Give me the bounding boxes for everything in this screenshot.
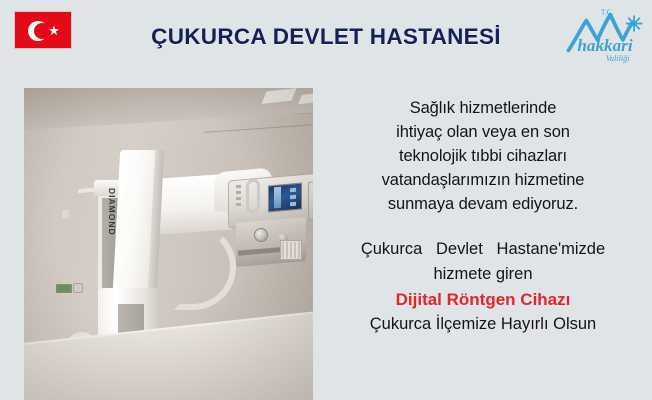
console-display-button [290,195,296,200]
console-side-module [308,180,313,220]
console-keypad [236,185,241,207]
highlight-device-name: Dijital Röntgen Cihazı [322,287,644,312]
console-display-button [290,202,296,207]
paragraph-one-line: ihtiyaç olan veya en son [322,120,644,144]
announcement-text: Sağlık hizmetlerinde ihtiyaç olan veya e… [322,96,644,337]
column-switch [73,283,83,293]
page-title: ÇUKURCA DEVLET HASTANESİ [0,24,652,50]
wall-mark [62,210,69,218]
xray-room-photo: DR DIAMOND [24,88,313,400]
header-bar: ★ ÇUKURCA DEVLET HASTANESİ T.C. hakkari … [0,0,652,72]
console-handle [246,178,260,213]
paragraph-one-line: sunmaya devam ediyoruz. [322,192,644,216]
logo-graphic: T.C. hakkari Valiliği [564,4,646,64]
paragraph-one-line: Sağlık hizmetlerinde [322,96,644,120]
console-display-button [290,188,296,193]
paragraph-one: Sağlık hizmetlerinde ihtiyaç olan veya e… [322,96,644,216]
logo-name-label: hakkari [577,36,632,55]
closing-line: Çukurca İlçemize Hayırlı Olsun [322,312,644,337]
column-indicator-panel [56,284,72,293]
paragraph-two: Çukurca Devlet Hastane'mizde hizmete gir… [322,237,644,337]
wall-vent-grille [282,242,300,258]
paragraph-two-line: hizmete giren [322,262,644,287]
paragraph-one-line: teknolojik tıbbi cihazları [322,144,644,168]
paragraph-one-line: vatandaşlarımızın hizmetine [322,168,644,192]
console-display-image [274,187,281,209]
paragraph-two-line: Çukurca Devlet Hastane'mizde [322,237,644,262]
device-brand-label: DIAMOND [107,188,117,236]
photo-scene: DR DIAMOND [24,88,313,400]
logo-tc-label: T.C. [601,8,614,17]
hakkari-valiligi-logo: T.C. hakkari Valiliği [564,4,646,64]
tube-collimator-knob [254,228,268,242]
logo-subtitle-label: Valiliği [606,54,630,63]
